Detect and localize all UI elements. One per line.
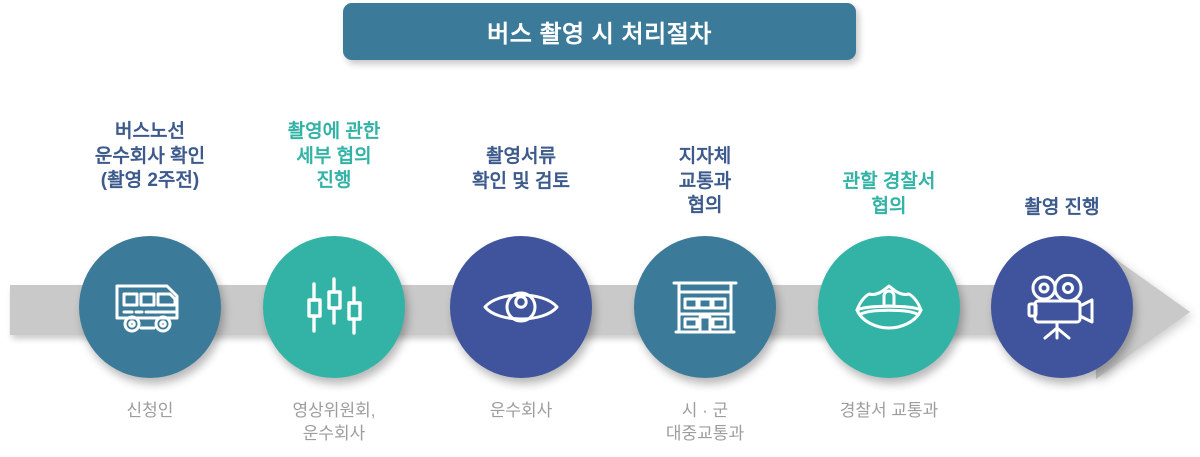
- step-2-circle[interactable]: [263, 236, 405, 378]
- step-5-role-label: 경찰서 교통과: [779, 400, 999, 423]
- sliders-icon: [305, 276, 363, 338]
- bus-icon: [113, 278, 187, 336]
- diagram-title-text: 버스 촬영 시 처리절차: [487, 14, 712, 49]
- step-6-circle[interactable]: [991, 236, 1133, 378]
- step-4-circle[interactable]: [634, 236, 776, 378]
- step-1-circle[interactable]: [79, 236, 221, 378]
- step-3-circle[interactable]: [450, 236, 592, 378]
- government-building-icon: [672, 278, 738, 336]
- step-5-circle[interactable]: [818, 236, 960, 378]
- step-6-title: 촬영 진행: [952, 196, 1172, 221]
- process-flow-diagram: 버스 촬영 시 처리절차 버스노선 운수회사 확인 (촬영 2주전): [0, 0, 1200, 457]
- diagram-title-banner: 버스 촬영 시 처리절차: [343, 3, 856, 60]
- movie-camera-icon: [1027, 274, 1097, 340]
- eye-icon: [482, 285, 560, 329]
- police-cap-icon: [853, 284, 925, 330]
